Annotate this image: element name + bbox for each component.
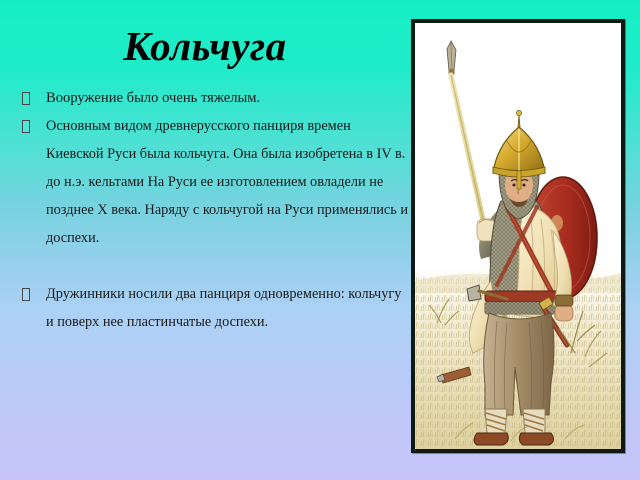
bullet-marker-icon [22,112,31,125]
bullet-marker-icon [22,280,31,293]
list-item: Вооружение было очень тяжелым. [18,84,408,112]
list-item-text: Вооружение было очень тяжелым. [46,90,260,106]
spacer [18,252,408,280]
warrior-illustration [415,23,621,449]
picture-inner [415,23,621,449]
slide-canvas: Кольчуга Вооружение было очень тяжелым. … [0,0,640,480]
page-title: Кольчуга [0,24,410,70]
list-item-text: Дружинники носили два панциря одновремен… [46,286,401,330]
list-item-text: Основным видом древнерусского панциря вр… [46,118,408,246]
list-item: Дружинники носили два панциря одновремен… [18,280,408,336]
list-item: Основным видом древнерусского панциря вр… [18,112,408,252]
picture-frame [411,19,625,453]
trousers [484,313,554,415]
bullet-marker-icon [22,84,31,97]
body-text-block: Вооружение было очень тяжелым. Основным … [18,84,408,336]
